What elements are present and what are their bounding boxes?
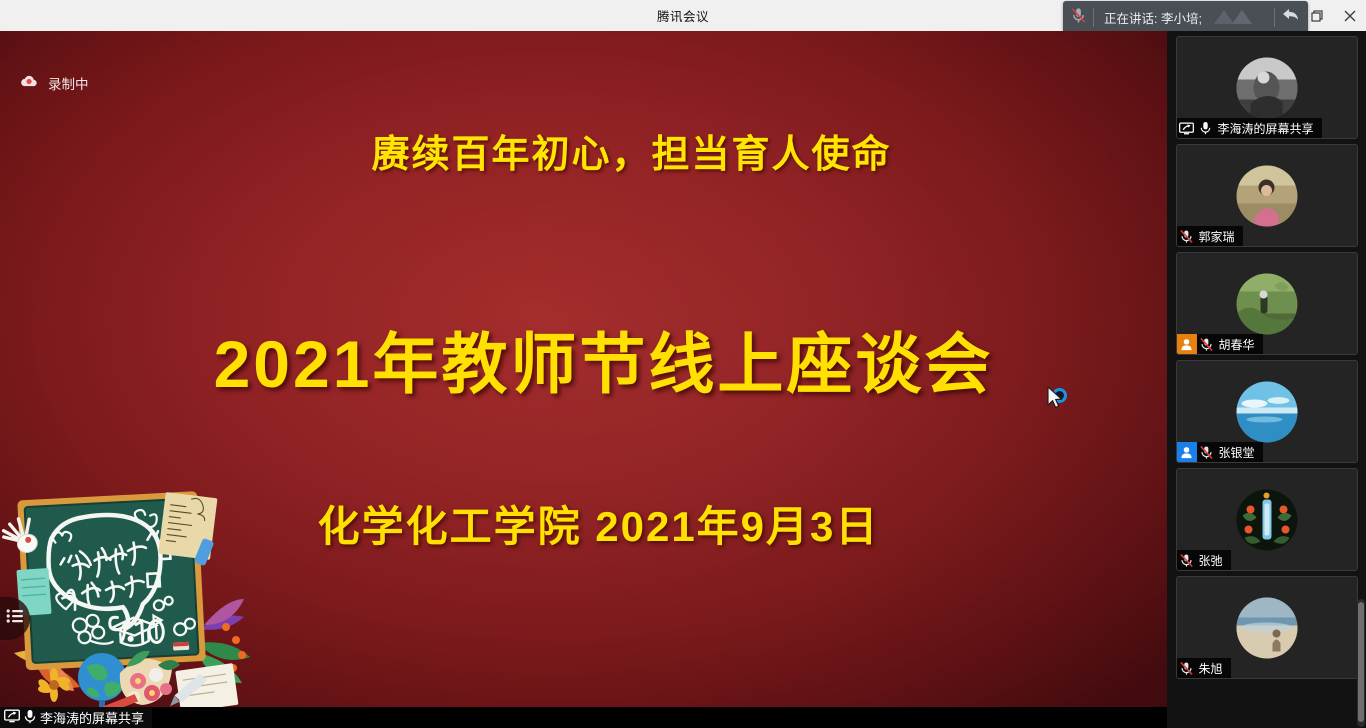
window-controls — [1300, 0, 1366, 31]
speaking-label: 正在讲话: 李小培; — [1094, 8, 1202, 27]
avatar — [1236, 597, 1297, 658]
avatar — [1236, 165, 1297, 226]
mic-muted-icon — [1197, 334, 1216, 354]
mic-muted-icon — [1177, 658, 1196, 678]
participant-tile[interactable]: 张银堂 — [1176, 360, 1358, 463]
shared-screen-stage[interactable]: 录制中 赓续百年初心，担当育人使命 2021年教师节线上座谈会 化学化工学院 2… — [0, 31, 1167, 707]
roster-scrollbar[interactable] — [1357, 599, 1365, 727]
nameplate: 李海涛的屏幕共享 — [1177, 118, 1322, 138]
list-menu-icon — [6, 608, 24, 629]
recording-label: 录制中 — [48, 73, 89, 93]
double-chevron-icon — [1210, 6, 1262, 30]
arrow-cursor-busy-icon — [1046, 386, 1080, 414]
roster-scrollbar-thumb[interactable] — [1358, 602, 1364, 722]
slide-heading: 赓续百年初心，担当育人使命 — [0, 123, 1167, 178]
close-button[interactable] — [1333, 0, 1366, 31]
avatar — [1236, 489, 1297, 550]
close-icon — [1343, 9, 1357, 23]
participant-name: 胡春华 — [1216, 336, 1255, 353]
participant-tile[interactable]: 张弛 — [1176, 468, 1358, 571]
nameplate: 张弛 — [1177, 550, 1231, 570]
mic-muted-icon — [1069, 6, 1088, 30]
nameplate: 张银堂 — [1177, 442, 1263, 462]
tencent-meeting-window: 腾讯会议 — [0, 0, 1366, 728]
participant-tile[interactable]: 李海涛的屏幕共享 — [1176, 36, 1358, 139]
return-to-meeting-button[interactable] — [1275, 1, 1308, 34]
mic-muted-icon — [1197, 442, 1216, 462]
cloud-recording-icon — [20, 74, 39, 93]
restore-icon — [1310, 9, 1324, 23]
participant-tile[interactable]: 朱旭 — [1176, 576, 1358, 679]
mic-icon — [1196, 118, 1215, 138]
nameplate: 朱旭 — [1177, 658, 1231, 678]
nameplate: 胡春华 — [1177, 334, 1263, 354]
screen-share-icon — [4, 709, 20, 726]
recording-indicator: 录制中 — [20, 73, 89, 93]
avatar — [1236, 57, 1297, 118]
participant-name: 朱旭 — [1196, 660, 1223, 677]
presentation-slide: 录制中 赓续百年初心，担当育人使命 2021年教师节线上座谈会 化学化工学院 2… — [0, 31, 1167, 707]
avatar — [1236, 381, 1297, 442]
screen-share-status-chip[interactable]: 李海涛的屏幕共享 — [0, 707, 152, 728]
slide-title: 2021年教师节线上座谈会 — [0, 311, 1167, 407]
bottom-status-bar: 李海涛的屏幕共享 — [0, 707, 1167, 728]
mic-muted-icon — [1177, 226, 1196, 246]
person-avatar-icon — [1177, 442, 1197, 462]
nameplate: 郭家瑞 — [1177, 226, 1243, 246]
participant-name: 李海涛的屏幕共享 — [1215, 120, 1314, 137]
person-avatar-icon — [1177, 334, 1197, 354]
window-title: 腾讯会议 — [657, 6, 709, 25]
participant-tile[interactable]: 郭家瑞 — [1176, 144, 1358, 247]
screen-share-icon — [1177, 118, 1196, 138]
slide-subtitle: 化学化工学院 2021年9月3日 — [0, 493, 1167, 554]
participant-roster[interactable]: 李海涛的屏幕共享 — [1167, 31, 1366, 728]
participant-name: 郭家瑞 — [1196, 228, 1235, 245]
mic-icon — [24, 709, 36, 727]
participant-tile[interactable]: 胡春华 — [1176, 252, 1358, 355]
back-arrow-icon — [1281, 6, 1301, 29]
mic-muted-icon — [1177, 550, 1196, 570]
screen-share-status-label: 李海涛的屏幕共享 — [40, 708, 144, 727]
avatar — [1236, 273, 1297, 334]
participant-name: 张弛 — [1196, 552, 1223, 569]
mic-mute-toggle[interactable] — [1063, 1, 1093, 34]
participant-name: 张银堂 — [1216, 444, 1255, 461]
speaking-indicator-bar[interactable]: 正在讲话: 李小培; — [1063, 1, 1308, 34]
